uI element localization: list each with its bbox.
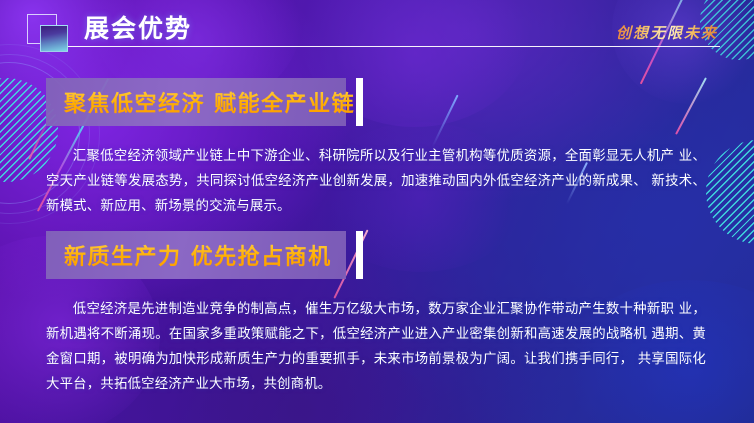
- header-tagline: 创想无限未来: [616, 22, 718, 43]
- logo-square-filled: [40, 25, 68, 52]
- overlapping-squares-logo-icon: [27, 14, 69, 52]
- section-banner: 新质生产力 优先抢占商机: [46, 231, 346, 279]
- section-block: 聚焦低空经济 赋能全产业链 汇聚低空经济领域产业链上中下游企业、科研院所以及行业…: [46, 78, 706, 126]
- banner-end-bar: [356, 78, 363, 126]
- slide-canvas: 展会优势 创想无限未来 聚焦低空经济 赋能全产业链 汇聚低空经济领域产业链上中下…: [0, 0, 754, 423]
- header-divider: [68, 46, 720, 47]
- page-title: 展会优势: [84, 9, 192, 45]
- section-banner: 聚焦低空经济 赋能全产业链: [46, 78, 346, 126]
- banner-end-bar: [356, 231, 363, 279]
- section-banner-label: 聚焦低空经济 赋能全产业链: [64, 86, 355, 118]
- section-block: 新质生产力 优先抢占商机 低空经济是先进制造业竞争的制高点，催生万亿级大市场，数…: [46, 231, 706, 279]
- section-body-text: 汇聚低空经济领域产业链上中下游企业、科研院所以及行业主管机构等优质资源，全面彰显…: [46, 144, 706, 219]
- section-body-text: 低空经济是先进制造业竞争的制高点，催生万亿级大市场，数万家企业汇聚协作带动产生数…: [46, 297, 706, 397]
- slide-header: 展会优势 创想无限未来: [0, 0, 754, 62]
- hatched-circle-decoration: [706, 140, 754, 244]
- section-banner-label: 新质生产力 优先抢占商机: [64, 239, 332, 271]
